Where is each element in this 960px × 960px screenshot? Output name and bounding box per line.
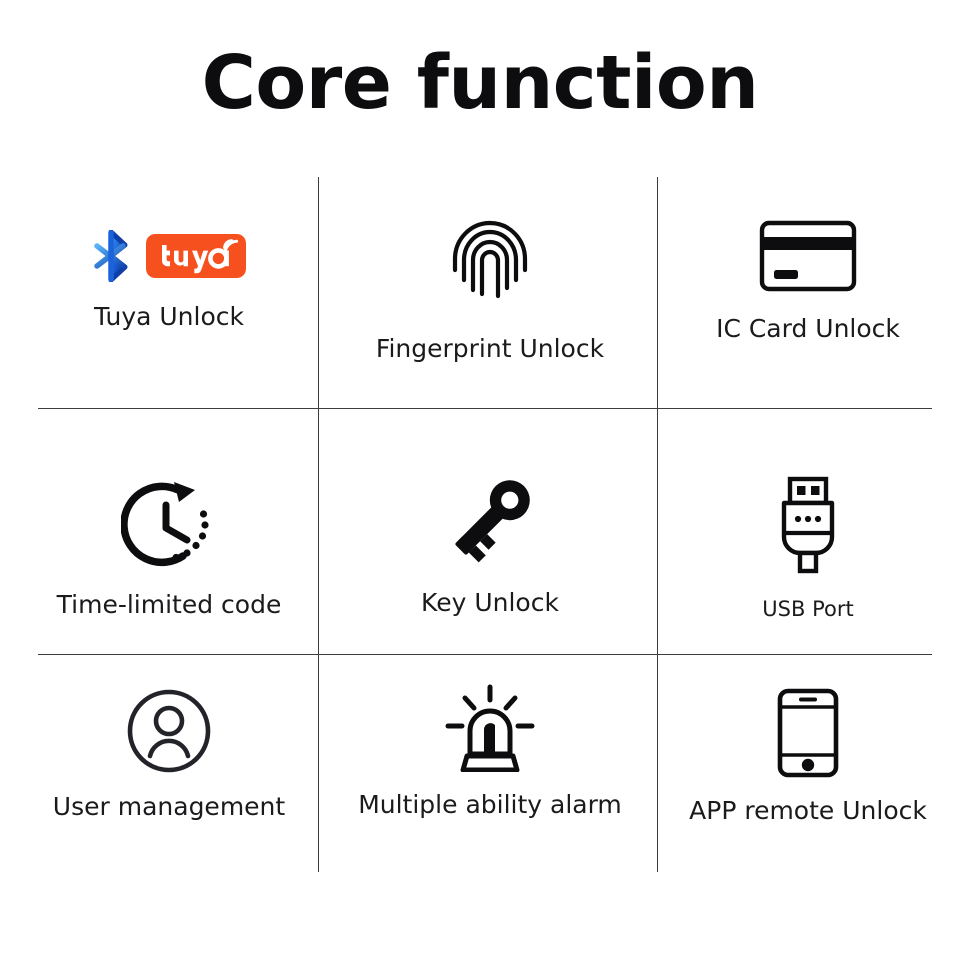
core-function-feature-grid: Core function [0,0,960,960]
fingerprint-icon [442,210,538,316]
feature-label: Key Unlock [421,588,559,617]
feature-cell-tuya-unlock: Tuya Unlock [20,228,318,331]
feature-label: Fingerprint Unlock [376,334,604,363]
feature-cell-key-unlock: Key Unlock [330,470,650,617]
grid-horizontal-rule-2 [38,654,932,655]
smartphone-glyph [777,688,839,778]
bluetooth-icon [92,230,132,282]
user-circle-glyph [126,688,212,774]
key-glyph [442,470,538,570]
user-circle-icon [126,688,212,774]
clock-arrow-icon [121,480,217,572]
feature-label: Time-limited code [57,590,282,619]
fingerprint-glyph [442,210,538,316]
feature-cell-app-remote-unlock: APP remote Unlock [668,688,948,825]
grid-vertical-rule-2 [657,177,658,872]
feature-cell-usb-port: USB Port [668,475,948,621]
page-title: Core function [0,46,960,120]
siren-alarm-glyph [443,684,537,772]
feature-cell-user-management: User management [20,688,318,821]
feature-label: IC Card Unlock [716,314,900,343]
feature-label: APP remote Unlock [689,796,927,825]
feature-label: User management [53,792,285,821]
usb-plug-glyph [772,475,844,575]
grid-horizontal-rule-1 [38,408,932,409]
feature-label: Tuya Unlock [94,302,244,331]
siren-alarm-icon [443,684,537,772]
clock-arrow-glyph [121,480,217,572]
key-icon [442,470,538,570]
smartphone-icon [777,688,839,778]
tuya-bluetooth-logo [92,228,246,284]
feature-cell-time-limited-code: Time-limited code [20,480,318,619]
usb-plug-icon [772,475,844,575]
feature-cell-multiple-ability-alarm: Multiple ability alarm [330,684,650,819]
tuya-wordmark-icon [146,234,246,278]
feature-label: USB Port [762,597,853,621]
feature-cell-fingerprint-unlock: Fingerprint Unlock [330,210,650,363]
ic-card-icon [759,220,857,292]
feature-cell-ic-card-unlock: IC Card Unlock [668,220,948,343]
feature-label: Multiple ability alarm [358,790,622,819]
grid-vertical-rule-1 [318,177,319,872]
ic-card-glyph [759,220,857,292]
